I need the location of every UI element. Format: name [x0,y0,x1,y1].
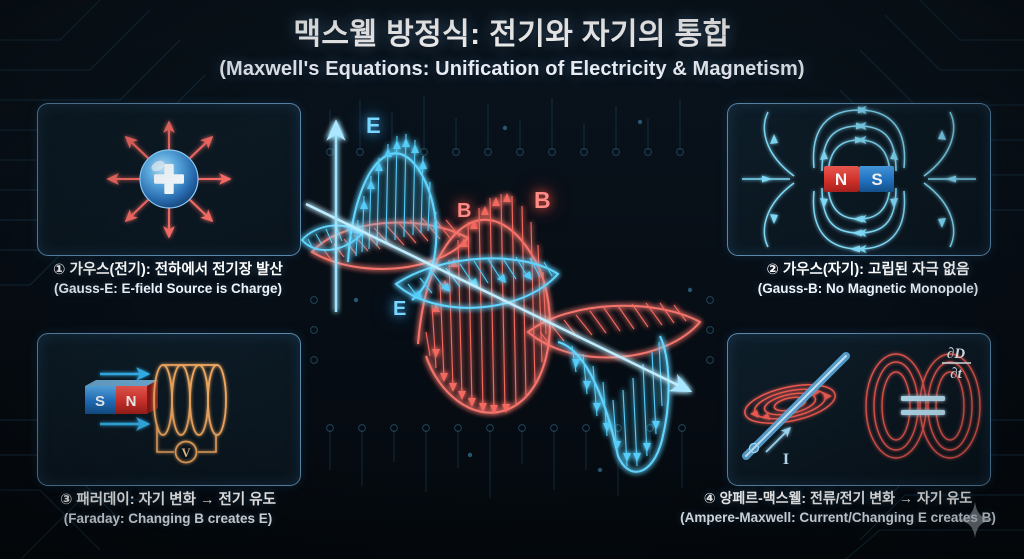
magnet-label-north: N [126,393,137,410]
coil [154,365,226,435]
pole-label-north: N [835,170,847,189]
caption-ko: ① 가우스(전기): 전하에서 전기장 발산 [18,258,318,279]
capacitor [901,360,945,460]
caption-ko: ③ 패러데이: 자기 변화 → 전기 유도 [18,488,318,509]
current-label: I [783,451,789,468]
title-english: (Maxwell's Equations: Unification of Ele… [0,58,1024,81]
caption-gauss-electric: ① 가우스(전기): 전하에서 전기장 발산 (Gauss-E: E-field… [18,258,318,296]
pole-label-south: S [871,170,882,189]
voltmeter-label: V [181,446,190,460]
title-korean: 맥스웰 방정식: 전기와 자기의 통합 [0,18,1024,53]
gauss-electric-diagram [38,104,300,255]
caption-en: (Faraday: Changing B creates E) [18,511,318,526]
caption-ko: ② 가우스(자기): 고립된 자극 없음 [718,258,1018,279]
e-field-wave [302,134,669,472]
caption-ko: ④ 앙페르-맥스웰: 전류/전기 변화 → 자기 유도 [663,488,1013,508]
caption-en: (Gauss-B: No Magnetic Monopole) [718,281,1018,296]
gauss-magnetic-diagram: N S [728,104,990,255]
faraday-diagram: S N V [38,334,300,485]
propagation-axis [306,204,688,390]
magnet-label-south: S [95,393,105,410]
partial-t-label: ∂t [950,366,962,382]
infographic-canvas: 맥스웰 방정식: 전기와 자기의 통합 (Maxwell's Equations… [0,0,1024,559]
caption-ampere-maxwell: ④ 앙페르-맥스웰: 전류/전기 변화 → 자기 유도 (Ampere-Maxw… [663,488,1013,525]
partial-D-label: ∂D [947,346,965,362]
ampere-maxwell-diagram: I ∂D [728,334,990,485]
panel-faraday[interactable]: S N V [37,333,301,486]
em-wave-diagram: E E B B [300,100,724,480]
page-title: 맥스웰 방정식: 전기와 자기의 통합 (Maxwell's Equations… [0,18,1024,81]
caption-en: (Gauss-E: E-field Source is Charge) [18,281,318,296]
wave-axes [306,124,688,390]
panel-gauss-electric[interactable] [37,103,301,256]
panel-ampere-maxwell[interactable]: I ∂D [727,333,991,486]
caption-en: (Ampere-Maxwell: Current/Changing E crea… [663,510,1013,525]
panel-gauss-magnetic[interactable]: N S [727,103,991,256]
caption-gauss-magnetic: ② 가우스(자기): 고립된 자극 없음 (Gauss-B: No Magnet… [718,258,1018,296]
caption-faraday: ③ 패러데이: 자기 변화 → 전기 유도 (Faraday: Changing… [18,488,318,526]
wire-bfield-loops [741,378,838,430]
current-wire [746,356,846,456]
